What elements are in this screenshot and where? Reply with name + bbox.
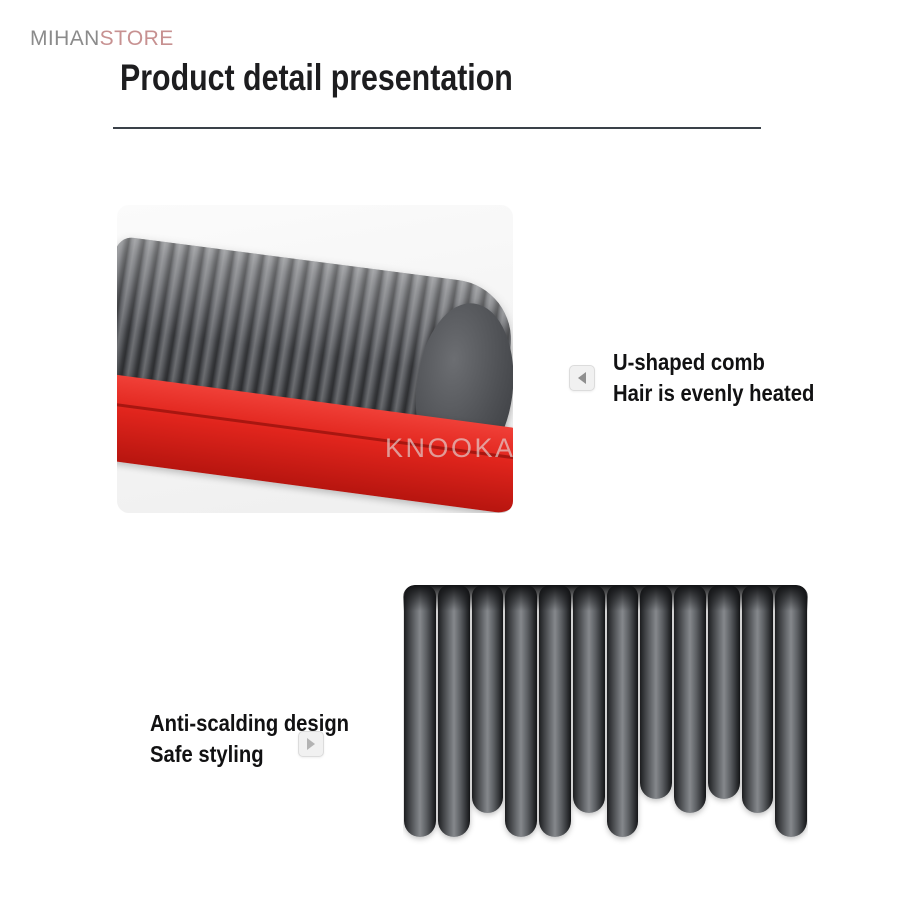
comb-base-shadow [403,585,808,611]
triangle-right-glyph [307,738,315,750]
comb-tooth [472,585,504,813]
comb-tooth [438,585,470,837]
comb-tooth [640,585,672,799]
u-shaped-comb-photo: KNOOKAR [117,205,513,513]
prev-arrow-icon[interactable] [569,365,595,391]
callout-u-shaped-comb: U-shaped comb Hair is evenly heated [613,347,814,409]
product-illustration-top [117,205,513,513]
next-arrow-icon[interactable] [298,731,324,757]
brand-logo-primary: MIHAN [30,27,100,50]
comb-tooth [742,585,774,813]
comb-tooth [539,585,571,837]
comb-tooth [775,585,807,837]
callout-line-1: U-shaped comb [613,347,814,378]
callout-line-2: Hair is evenly heated [613,378,814,409]
triangle-left-glyph [578,372,586,384]
page-title: Product detail presentation [120,56,513,100]
brand-logo-secondary: STORE [100,27,174,50]
comb-tooth [505,585,537,837]
comb-tooth [607,585,639,837]
comb-teeth-closeup-photo [403,585,808,865]
comb-tooth [404,585,436,837]
comb-tooth [674,585,706,813]
product-illustration-bottom [403,585,808,865]
comb-tooth [573,585,605,813]
brand-logo: MIHANSTORE [30,27,174,51]
comb-tooth [708,585,740,799]
title-divider [113,127,761,129]
comb-teeth-row [403,585,808,837]
